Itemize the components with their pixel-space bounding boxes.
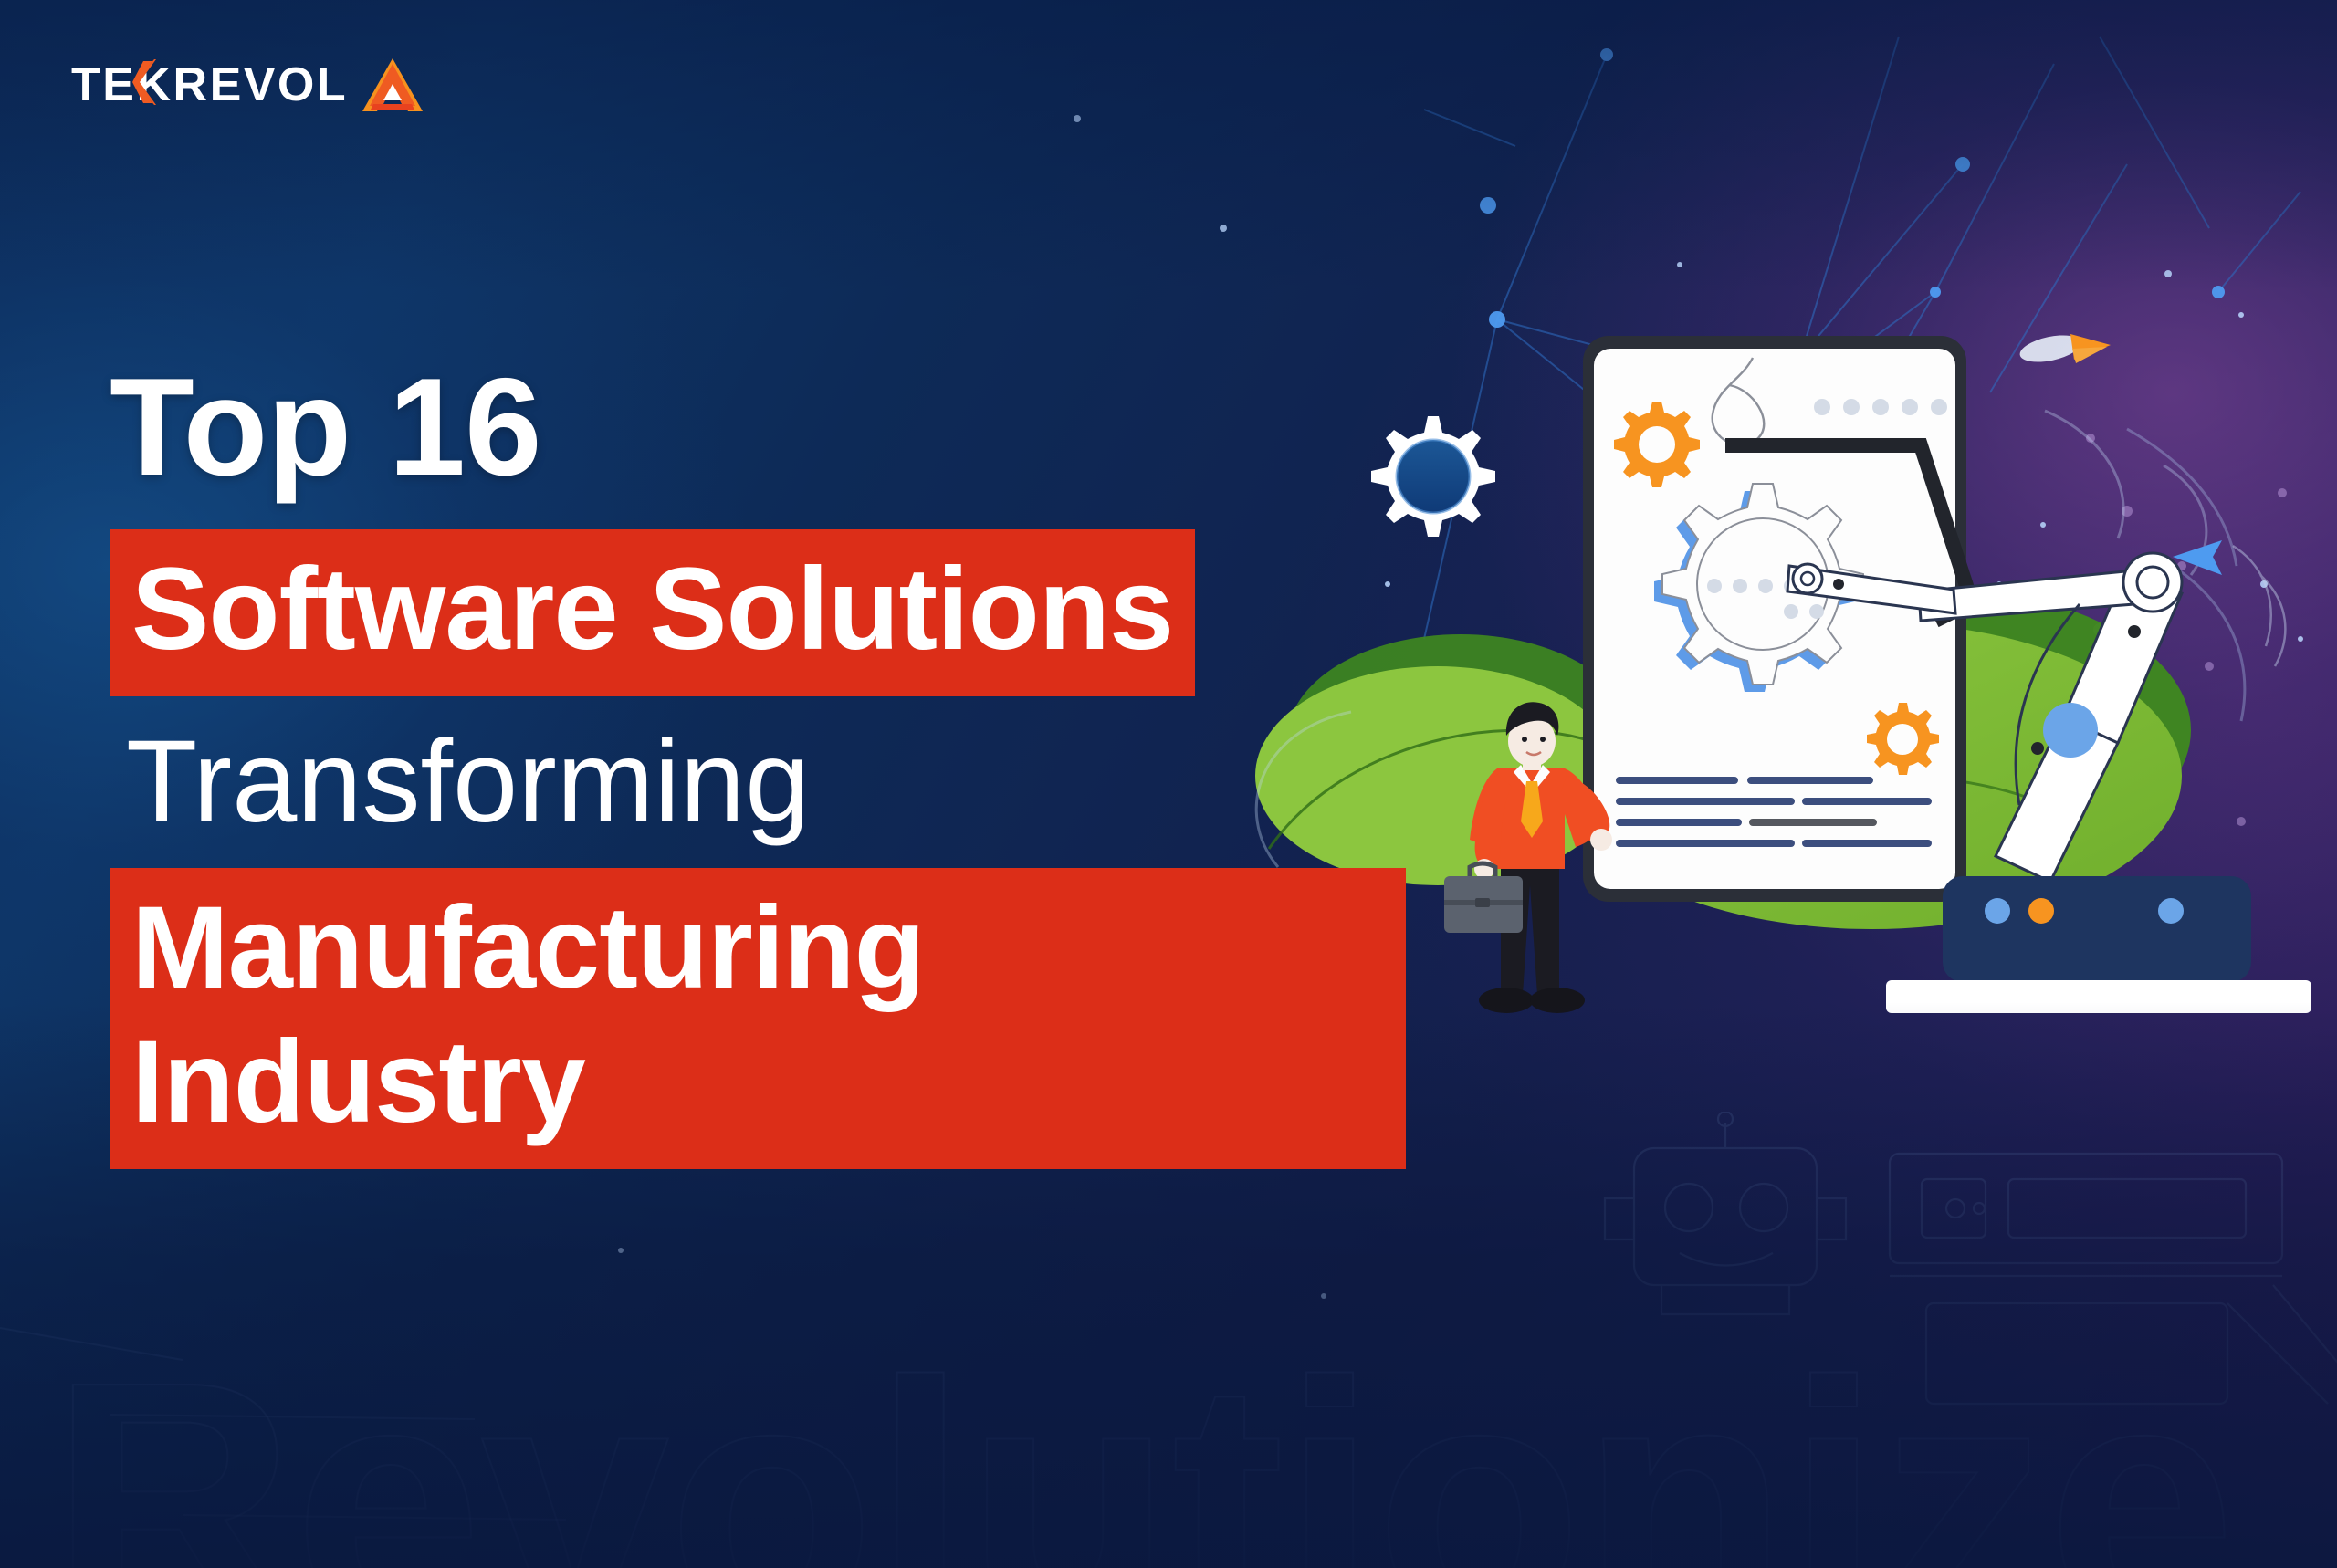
top-vignette	[0, 0, 2337, 292]
small-gear-bottom-icon	[1867, 703, 1939, 775]
squiggle-line	[1713, 358, 1765, 445]
paper-plane-icon	[2017, 330, 2111, 367]
briefcase-icon	[1444, 863, 1523, 933]
blue-arrow-icon	[2173, 540, 2222, 575]
small-gear-top-icon	[1614, 402, 1700, 487]
document-text-lines	[1619, 780, 1928, 843]
blueprint-machine-outline	[1871, 1130, 2337, 1431]
logo-text-part-2: REVOL	[173, 61, 349, 109]
headline-line-4-row: Manufacturing Industry	[110, 868, 1406, 1169]
robotic-arm	[1787, 553, 2311, 1013]
headline-line-2-row: Software Solutions	[110, 529, 1406, 696]
logo-text-part-k: K	[136, 61, 173, 109]
logo-wordmark: TE K REVOL	[71, 61, 348, 109]
logo-chevron-icon	[132, 59, 156, 105]
tablet-status-dots	[1814, 399, 1947, 415]
headline-line-2: Software Solutions	[110, 529, 1195, 696]
headline-block: Top 16 Software Solutions Transforming M…	[110, 358, 1406, 1180]
headline-line-3: Transforming	[110, 715, 1406, 853]
robot-base-indicator-dots	[1985, 898, 2184, 924]
tablet-device	[1583, 336, 1972, 902]
tekrevol-triangle-mark-icon	[362, 58, 423, 111]
businessman-figure	[1444, 702, 1612, 1013]
blueprint-robot-outline	[1552, 1112, 1935, 1349]
headline-line-1: Top 16	[110, 358, 1406, 497]
dark-bracket-line	[1725, 445, 1972, 621]
headline-line-4: Manufacturing Industry	[110, 868, 1406, 1169]
center-gear-dots	[1707, 579, 1824, 619]
logo-text-part-1: TE	[71, 61, 136, 109]
robot-base	[1943, 876, 2251, 982]
brand-logo[interactable]: TE K REVOL	[71, 57, 423, 113]
background-watermark-text: Revolutionize	[50, 1331, 2234, 1568]
banner-canvas: Revolutionize TE	[0, 0, 2337, 1568]
center-gear-graphic	[1654, 484, 1863, 692]
